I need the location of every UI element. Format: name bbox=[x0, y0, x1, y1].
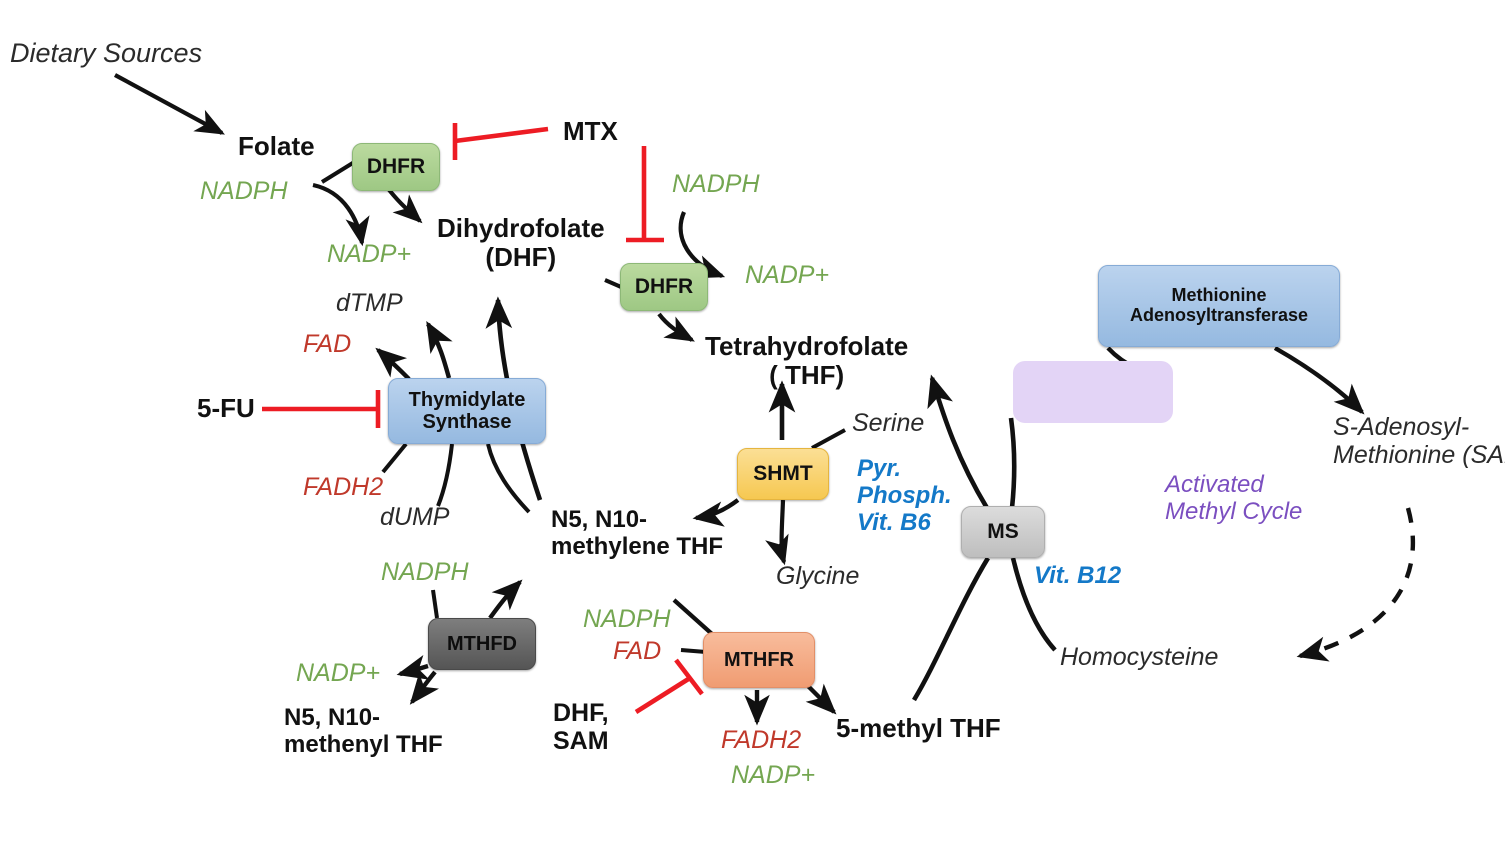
label-mtx: MTX bbox=[563, 117, 618, 146]
label-5-fu: 5-FU bbox=[197, 394, 255, 423]
inhibition-5fu-ts bbox=[262, 390, 378, 428]
arrow-mthfd-to-methenyl bbox=[412, 672, 435, 702]
label-nadp-plus-1: NADP+ bbox=[327, 240, 411, 268]
redacted-methionine-box bbox=[1013, 361, 1173, 423]
arrow-mthfd-to-methylene bbox=[490, 582, 520, 618]
arrow-mthfd-to-nadp3 bbox=[400, 666, 428, 674]
label-fadh2-2: FADH2 bbox=[721, 726, 801, 754]
inhibition-dhfsam-mthfr bbox=[636, 660, 702, 712]
label-tetrahydrofolate: Tetrahydrofolate ( THF) bbox=[705, 332, 908, 391]
enzyme-dhfr-1[interactable]: DHFR bbox=[352, 143, 440, 191]
enzyme-methionine-adenosyltransferase[interactable]: Methionine Adenosyltransferase bbox=[1098, 265, 1340, 347]
label-activated-methyl-cycle: Activated Methyl Cycle bbox=[1165, 471, 1302, 525]
enzyme-shmt[interactable]: SHMT bbox=[737, 448, 829, 500]
label-serine: Serine bbox=[852, 409, 924, 437]
arrow-dietary-to-folate bbox=[115, 75, 222, 133]
line-nadph3-to-mthfd bbox=[433, 590, 437, 618]
label-dihydrofolate: Dihydrofolate (DHF) bbox=[437, 214, 605, 273]
label-5-methyl-thf: 5-methyl THF bbox=[836, 714, 1001, 743]
line-folate-to-dhfr1 bbox=[322, 161, 356, 182]
label-n5n10-methylene-thf: N5, N10- methylene THF bbox=[551, 506, 723, 560]
line-ms-to-methionine bbox=[1011, 418, 1014, 508]
label-homocysteine: Homocysteine bbox=[1060, 643, 1218, 671]
arrow-nadph1-to-nadp1 bbox=[313, 185, 362, 243]
inhibition-mtx-dhfr1 bbox=[455, 123, 548, 160]
label-fad-2: FAD bbox=[613, 637, 661, 665]
line-methylene-to-mthfr bbox=[674, 600, 712, 634]
enzyme-thymidylate-synthase[interactable]: Thymidylate Synthase bbox=[388, 378, 546, 444]
label-glycine: Glycine bbox=[776, 562, 859, 590]
label-nadph-1: NADPH bbox=[200, 177, 288, 205]
arrow-mthfr-to-5methylthf bbox=[808, 686, 834, 712]
enzyme-mthfr[interactable]: MTHFR bbox=[703, 632, 815, 688]
line-serine-to-shmt bbox=[812, 430, 845, 448]
arrow-dhfr1-to-dhf bbox=[386, 186, 420, 221]
line-methylene-to-ts bbox=[488, 444, 529, 512]
arrow-mat-to-sam bbox=[1275, 348, 1362, 412]
label-nadph-4: NADPH bbox=[583, 605, 671, 633]
label-vit-b12: Vit. B12 bbox=[1034, 562, 1121, 589]
label-folate: Folate bbox=[238, 132, 315, 161]
label-fad: FAD bbox=[303, 330, 351, 358]
label-fadh2: FADH2 bbox=[303, 473, 383, 501]
inhibition-mtx-dhfr2 bbox=[626, 146, 664, 240]
pathway-diagram-canvas: DHFR DHFR Thymidylate Synthase SHMT MS M… bbox=[0, 0, 1505, 845]
arrow-ts-to-dtmp bbox=[428, 324, 449, 378]
line-fadh2-to-ts bbox=[383, 444, 406, 472]
label-dietary-sources: Dietary Sources bbox=[10, 38, 202, 69]
enzyme-ms[interactable]: MS bbox=[961, 506, 1045, 558]
arrow-dhfr2-to-thf bbox=[659, 314, 692, 340]
label-dump: dUMP bbox=[380, 503, 449, 531]
label-dhf-sam: DHF, SAM bbox=[553, 699, 609, 756]
label-n5n10-methenyl-thf: N5, N10- methenyl THF bbox=[284, 704, 443, 758]
label-nadp-plus-4: NADP+ bbox=[731, 761, 815, 789]
arrow-shmt-to-glycine bbox=[782, 500, 784, 562]
line-dump-to-ts bbox=[438, 444, 452, 506]
arrow-ts-to-fad bbox=[378, 350, 409, 379]
label-dtmp: dTMP bbox=[336, 289, 403, 317]
label-nadph-2: NADPH bbox=[672, 170, 760, 198]
enzyme-mthfd[interactable]: MTHFD bbox=[428, 618, 536, 670]
label-pyr-phosph-vitb6: Pyr. Phosph. Vit. B6 bbox=[857, 455, 952, 536]
label-nadp-plus-2: NADP+ bbox=[745, 261, 829, 289]
label-nadph-3: NADPH bbox=[381, 558, 469, 586]
line-ms-to-5methylthf bbox=[914, 558, 988, 700]
label-s-adenosyl-methionine: S-Adenosyl- Methionine (SAM) bbox=[1333, 413, 1505, 470]
arrow-sam-to-homocysteine-dashed bbox=[1300, 508, 1413, 656]
enzyme-dhfr-2[interactable]: DHFR bbox=[620, 263, 708, 311]
label-nadp-plus-3: NADP+ bbox=[296, 659, 380, 687]
